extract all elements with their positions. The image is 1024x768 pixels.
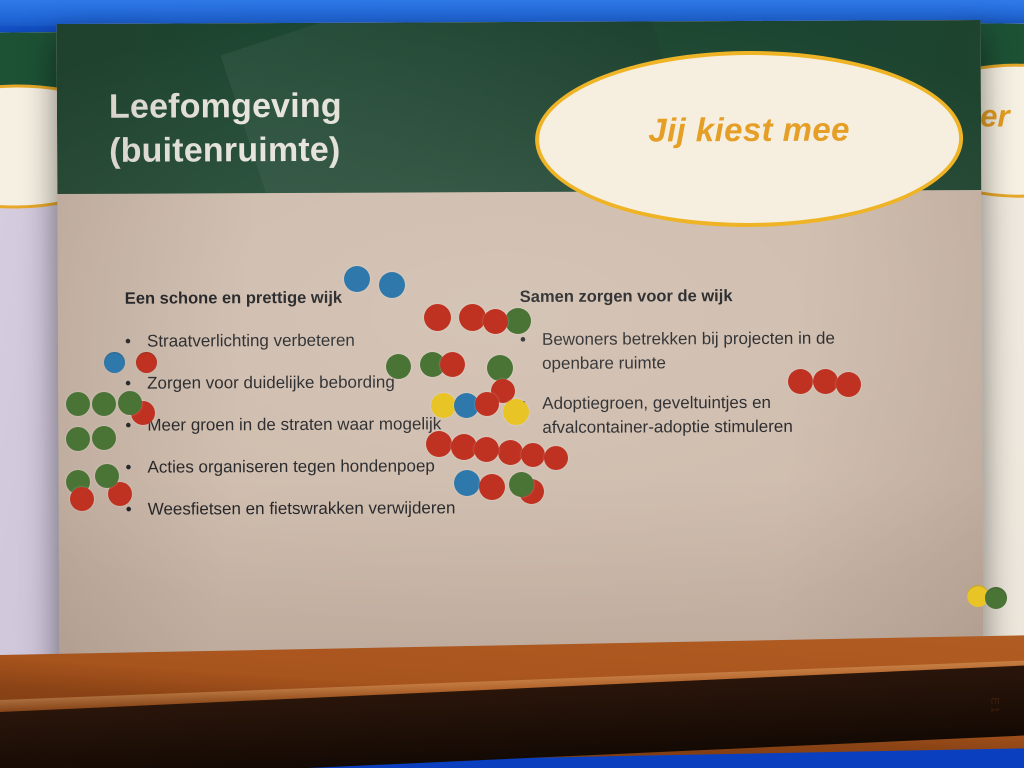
sticker-dot-red xyxy=(424,304,451,331)
sticker-dot-red xyxy=(788,369,813,394)
sticker-dot-red-poster-left xyxy=(136,352,157,373)
list-item: • Adoptiegroen, geveltuintjes en afvalco… xyxy=(542,391,824,440)
sticker-dot-green xyxy=(487,355,513,381)
sticker-dot-yellow xyxy=(503,399,529,425)
sticker-dot-red xyxy=(475,392,499,416)
sticker-dot-blue xyxy=(379,272,405,298)
sticker-dot-red xyxy=(459,304,486,331)
sticker-dot-green xyxy=(92,426,116,450)
sticker-dot-red xyxy=(426,431,452,457)
column-heading-right: Samen zorgen voor de wijk xyxy=(520,287,733,307)
sticker-dot-green xyxy=(66,392,90,416)
sticker-dot-green xyxy=(95,464,119,488)
sticker-dot-red xyxy=(544,446,568,470)
sticker-dot-red xyxy=(474,437,499,462)
sticker-dot-blue xyxy=(454,470,480,496)
sticker-dot-red xyxy=(836,372,861,397)
sticker-dot-red xyxy=(479,474,505,500)
sticker-dot-red xyxy=(521,443,545,467)
sticker-dot-green xyxy=(66,427,90,451)
sticker-dot-green xyxy=(505,308,531,334)
bullet-glyph: • xyxy=(125,456,131,480)
bullet-glyph: • xyxy=(125,414,131,438)
list-item: • Weesfietsen en fietswrakken verwijdere… xyxy=(148,496,508,522)
sticker-dot-red xyxy=(70,487,94,511)
bullet-glyph: • xyxy=(125,330,131,354)
sticker-dot-red xyxy=(440,352,465,377)
sticker-dot-green xyxy=(509,472,534,497)
column-heading-left: Een schone en prettige wijk xyxy=(125,289,342,309)
sticker-dot-red xyxy=(813,369,838,394)
sticker-dot-red xyxy=(498,440,523,465)
sticker-dot-red xyxy=(483,309,508,334)
sticker-dot-blue xyxy=(344,266,370,292)
sticker-dot-green xyxy=(118,391,142,415)
jij-kiest-mee-label: Jij kiest mee xyxy=(539,110,959,150)
list-item: • Acties organiseren tegen hondenpoep xyxy=(147,454,487,480)
sticker-dot-green-poster-right xyxy=(985,587,1007,609)
main-poster-board: Leefomgeving (buitenruimte) Jij kiest me… xyxy=(57,20,984,674)
sticker-dot-green xyxy=(92,392,116,416)
sticker-dot-blue-poster-left xyxy=(104,352,125,373)
sticker-dot-yellow xyxy=(431,393,456,418)
sticker-dot-green xyxy=(386,354,411,379)
board-content: Een schone en prettige wijk • Straatverl… xyxy=(57,190,983,674)
photo-scene: Wafav ersterke tionering nderen e art in… xyxy=(0,0,1024,768)
list-item: • Straatverlichting verbeteren xyxy=(147,328,477,354)
board-title: Leefomgeving (buitenruimte) xyxy=(109,85,342,173)
shelf-marking: E1 xyxy=(989,697,1001,714)
